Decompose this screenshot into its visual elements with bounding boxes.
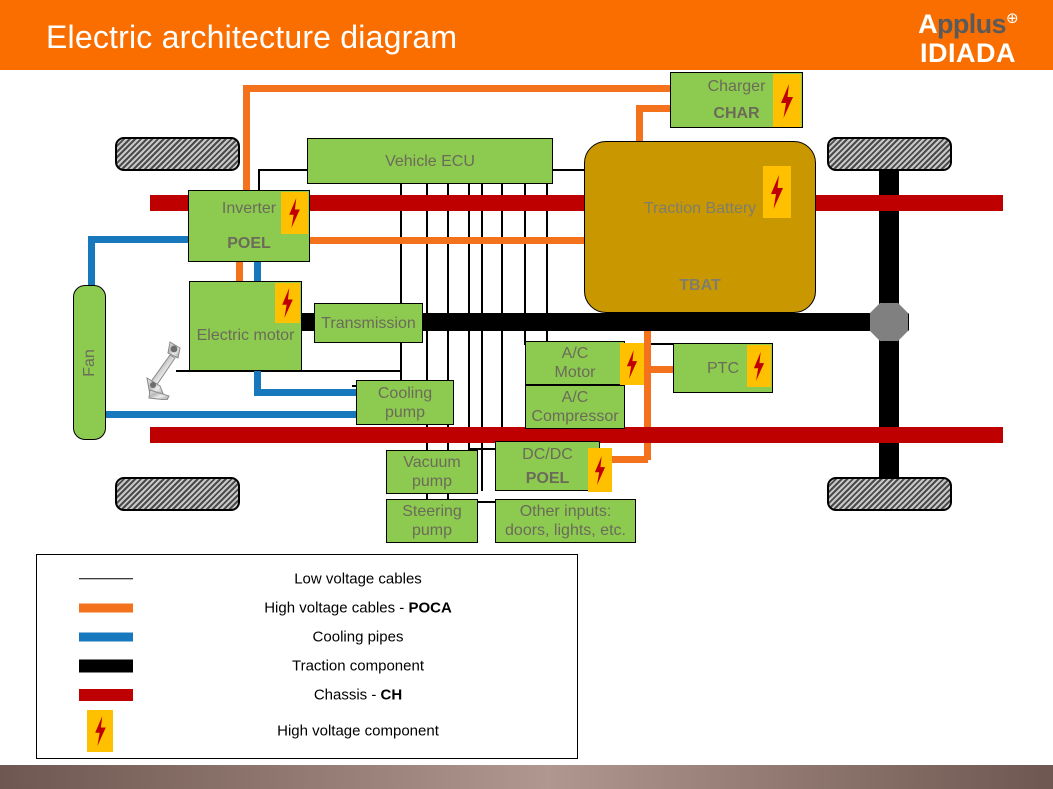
steering-pump-label-2: pump: [412, 521, 452, 540]
component-charger[interactable]: Charger CHAR: [670, 72, 803, 128]
component-traction-battery[interactable]: Traction Battery TBAT: [584, 141, 816, 313]
charger-code: CHAR: [713, 104, 759, 123]
inverter-code: POEL: [227, 234, 271, 253]
legend-swatch-traction-component: [79, 659, 133, 672]
transmission-label: Transmission: [321, 314, 416, 333]
wheel-front-right: [827, 137, 952, 171]
wheel-rear-right: [827, 477, 952, 511]
hv-charger-top-run: [243, 85, 685, 92]
legend-swatch-high-voltage-component: [87, 710, 113, 752]
cooling-motor-to-pump: [254, 389, 356, 396]
legend-item-high-voltage-cables: High voltage cables - POCA: [37, 593, 577, 622]
logo-applus: Applus⊕: [893, 4, 1043, 39]
component-ptc[interactable]: PTC: [673, 343, 773, 393]
component-fan[interactable]: Fan: [73, 285, 106, 440]
hv-battery-inverter-run: [306, 237, 588, 244]
logo-idiada: IDIADA: [893, 39, 1043, 67]
component-ac-motor[interactable]: A/C Motor: [525, 341, 625, 385]
high-voltage-bolt-icon: [763, 166, 791, 218]
legend-label-high-voltage-cables: High voltage cables - POCA: [147, 599, 569, 616]
dcdc-code: POEL: [526, 469, 570, 488]
fan-label: Fan: [81, 349, 99, 377]
high-voltage-bolt-icon: [588, 448, 612, 492]
high-voltage-bolt-icon: [93, 716, 108, 746]
ac-motor-label-1: A/C: [562, 344, 589, 363]
inverter-label: Inverter: [222, 199, 276, 218]
legend-item-high-voltage-component: High voltage component: [37, 709, 577, 753]
cooling-inverter-stub: [88, 236, 194, 243]
legend-panel: Low voltage cables High voltage cables -…: [36, 554, 578, 759]
component-inverter[interactable]: Inverter POEL: [188, 190, 310, 262]
registered-plus-icon: ⊕: [1006, 10, 1018, 27]
vehicle-ecu-label: Vehicle ECU: [385, 152, 475, 171]
high-voltage-bolt-icon: [281, 192, 308, 234]
electric-motor-label: Electric motor: [197, 326, 295, 345]
legend-item-traction-component: Traction component: [37, 651, 577, 680]
legend-swatch-high-voltage-cables: [79, 603, 133, 612]
lv-bus-8: [400, 183, 402, 385]
steering-pump-label-1: Steering: [402, 502, 462, 521]
wheel-rear-left: [115, 477, 240, 511]
vacuum-pump-label-1: Vacuum: [403, 453, 461, 472]
component-steering-pump[interactable]: Steering pump: [386, 499, 478, 543]
legend-item-low-voltage-cables: Low voltage cables: [37, 564, 577, 593]
component-transmission[interactable]: Transmission: [314, 303, 423, 343]
legend-label-low-voltage-cables: Low voltage cables: [147, 570, 569, 587]
high-voltage-bolt-icon: [620, 343, 644, 385]
high-voltage-bolt-icon: [275, 283, 300, 323]
slide-canvas: Electric architecture diagram Applus⊕ ID…: [0, 0, 1053, 789]
component-dcdc[interactable]: DC/DC POEL: [495, 441, 600, 491]
legend-swatch-low-voltage-cables: [79, 578, 133, 580]
slide-header: Electric architecture diagram Applus⊕ ID…: [0, 0, 1053, 70]
legend-swatch-cooling-pipes: [79, 632, 133, 641]
page-title: Electric architecture diagram: [46, 20, 457, 54]
component-other-inputs[interactable]: Other inputs: doors, lights, etc.: [495, 499, 636, 543]
ptc-label: PTC: [707, 359, 739, 378]
legend-item-cooling-pipes: Cooling pipes: [37, 622, 577, 651]
lv-bus-4: [481, 183, 483, 491]
wheel-front-left: [115, 137, 240, 171]
legend-label-high-voltage-component: High voltage component: [147, 723, 569, 740]
legend-item-chassis: Chassis - CH: [37, 680, 577, 709]
legend-swatch-chassis: [79, 689, 133, 701]
component-vehicle-ecu[interactable]: Vehicle ECU: [307, 138, 553, 184]
vacuum-pump-label-2: pump: [412, 472, 452, 491]
other-inputs-label-1: Other inputs:: [520, 502, 612, 521]
legend-label-traction-component: Traction component: [147, 657, 569, 674]
cooling-pump-label-2: pump: [385, 403, 425, 422]
ac-motor-label-2: Motor: [555, 363, 596, 382]
slide-footer-strip: [0, 765, 1053, 789]
logo-brand-rest: pplus: [937, 9, 1006, 39]
applus-idiada-logo: Applus⊕ IDIADA: [893, 4, 1043, 66]
logo-letter-a: A: [918, 9, 937, 39]
dcdc-label: DC/DC: [522, 445, 573, 464]
high-voltage-bolt-icon: [773, 74, 801, 127]
differential-node: [869, 302, 909, 342]
ac-compressor-label-2: Compressor: [531, 407, 618, 426]
high-voltage-bolt-icon: [747, 345, 771, 387]
lv-bus-3: [468, 183, 470, 491]
component-electric-motor[interactable]: Electric motor: [189, 281, 302, 371]
cooling-pump-return: [95, 411, 357, 418]
cooling-pump-label-1: Cooling: [378, 384, 432, 403]
other-inputs-label-2: doors, lights, etc.: [505, 521, 626, 540]
charger-label: Charger: [708, 77, 766, 96]
legend-label-cooling-pipes: Cooling pipes: [147, 628, 569, 645]
ac-compressor-label-1: A/C: [562, 388, 589, 407]
component-vacuum-pump[interactable]: Vacuum pump: [386, 450, 478, 494]
traction-battery-code: TBAT: [585, 277, 815, 295]
component-ac-compressor[interactable]: A/C Compressor: [525, 385, 625, 429]
component-cooling-pump[interactable]: Cooling pump: [356, 380, 454, 425]
legend-label-chassis: Chassis - CH: [147, 686, 569, 703]
mechanical-linkage-image: [140, 338, 192, 400]
lv-ecu-left-stub: [258, 169, 308, 171]
